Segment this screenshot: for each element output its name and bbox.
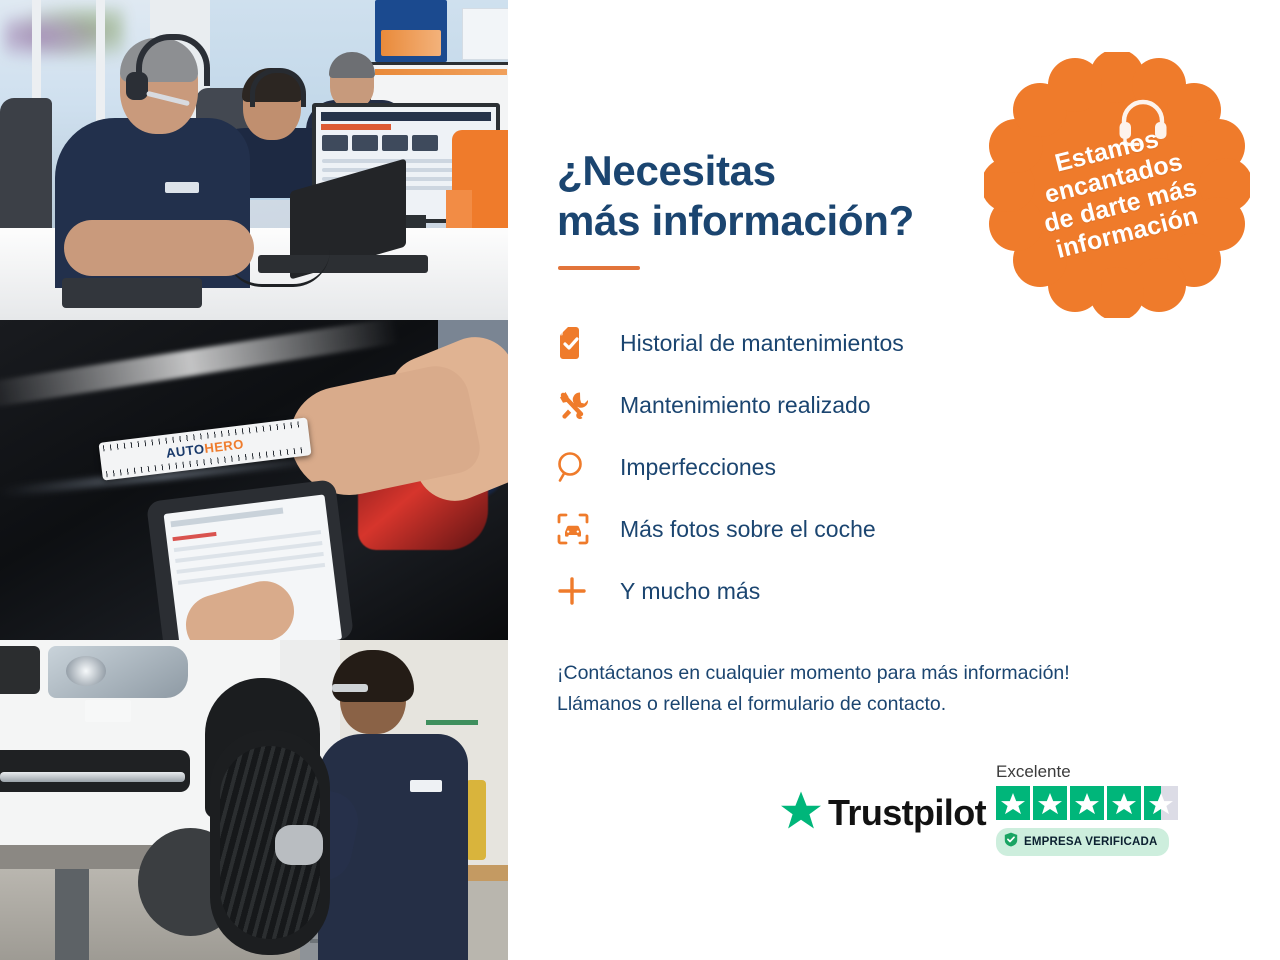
- contact-line-2: Llámanos o rellena el formulario de cont…: [557, 693, 946, 715]
- feature-list: Historial de mantenimientos Mantenimient…: [556, 312, 1116, 622]
- page-title-line-2: más información?: [557, 197, 914, 244]
- feature-label: Mantenimiento realizado: [602, 392, 871, 419]
- car-scan-icon: [556, 512, 602, 546]
- license-plate-decor: [85, 700, 131, 722]
- star-icon-half: [1144, 786, 1178, 820]
- verified-business-badge: EMPRESA VERIFICADA: [996, 828, 1169, 856]
- car-lift-decor: [55, 869, 89, 960]
- rating-label: Excelente: [996, 762, 1178, 782]
- contact-line-1: ¡Contáctanos en cualquier momento para m…: [557, 662, 1070, 684]
- document-check-icon: [556, 326, 602, 360]
- wall-poster-decor: [375, 0, 447, 62]
- info-panel-page: AUTOHERO: [0, 0, 1280, 960]
- page-title: ¿Necesitas más información?: [557, 146, 977, 245]
- work-glove-decor: [275, 825, 323, 865]
- title-divider: [558, 266, 640, 270]
- wall-poster-decor: [462, 8, 508, 60]
- trustpilot-wordmark: Trustpilot: [828, 792, 986, 834]
- rating-stars: [996, 786, 1178, 820]
- verified-shield-icon: [1004, 832, 1018, 852]
- contact-text: ¡Contáctanos en cualquier momento para m…: [557, 658, 1237, 721]
- car-grille-decor: [0, 646, 40, 694]
- outside-trees-decor: [4, 6, 124, 66]
- feature-item-maintenance-done: Mantenimiento realizado: [556, 374, 1116, 436]
- post-decor: [466, 780, 486, 860]
- mechanic-tire-photo: [0, 640, 508, 960]
- call-center-agents-photo: [0, 0, 508, 320]
- headset-decor: [126, 72, 148, 100]
- trustpilot-rating: Excelente: [996, 762, 1178, 856]
- feature-label: Historial de mantenimientos: [602, 330, 904, 357]
- star-icon: [780, 790, 822, 835]
- plus-icon: [556, 575, 602, 607]
- agent-figure-decor: [64, 220, 254, 276]
- star-icon: [1033, 786, 1067, 820]
- safety-glasses-decor: [332, 684, 368, 692]
- trustpilot-widget[interactable]: Trustpilot Excelente: [780, 762, 1210, 882]
- feature-label: Imperfecciones: [602, 454, 776, 481]
- bumper-grille-decor: [0, 750, 190, 792]
- feature-item-much-more: Y mucho más: [556, 560, 1116, 622]
- car-headlight-decor: [48, 646, 188, 698]
- feature-item-imperfections: Imperfecciones: [556, 436, 1116, 498]
- tools-icon: [556, 388, 602, 422]
- feature-label: Y mucho más: [602, 578, 760, 605]
- magnifier-icon: [556, 450, 602, 484]
- autohero-shirt-logo-decor: [410, 780, 442, 792]
- star-icon: [1070, 786, 1104, 820]
- autohero-polo-logo-decor: [165, 182, 199, 193]
- page-title-line-1: ¿Necesitas: [557, 147, 776, 194]
- feature-item-maintenance-history: Historial de mantenimientos: [556, 312, 1116, 374]
- office-chair-decor: [0, 98, 52, 248]
- tablet-decor: [62, 278, 202, 308]
- feature-label: Más fotos sobre el coche: [602, 516, 876, 543]
- chrome-trim-decor: [0, 772, 185, 782]
- photo-column: AUTOHERO: [0, 0, 508, 960]
- car-inspection-ruler-photo: AUTOHERO: [0, 320, 508, 640]
- star-icon: [1107, 786, 1141, 820]
- star-icon: [996, 786, 1030, 820]
- pipe-decor: [426, 720, 478, 725]
- trustpilot-logo: Trustpilot: [780, 790, 986, 835]
- feature-item-more-photos: Más fotos sobre el coche: [556, 498, 1116, 560]
- verified-label: EMPRESA VERIFICADA: [1024, 836, 1158, 848]
- info-badge: Estamos encantados de darte más informac…: [984, 52, 1250, 318]
